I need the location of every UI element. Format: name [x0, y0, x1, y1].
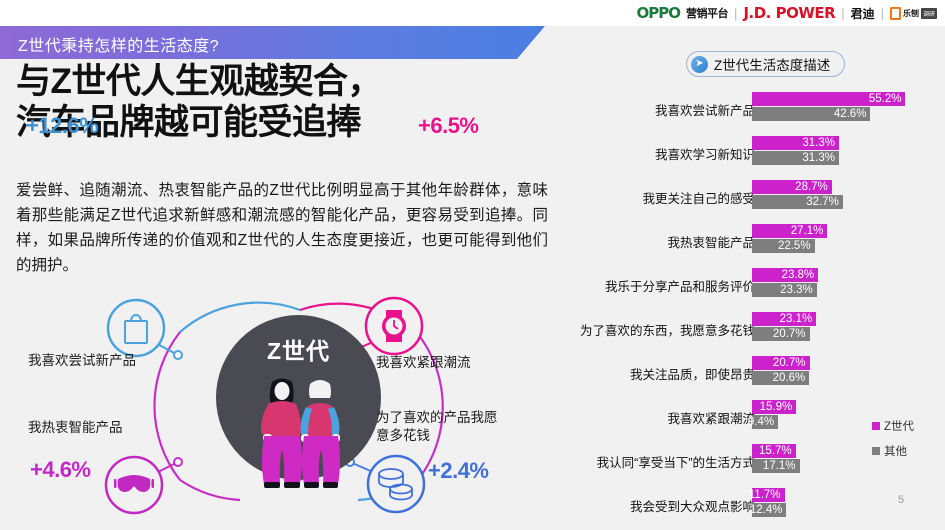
chart-bar-group: 23.1%20.7%: [752, 312, 816, 342]
infographic: Z世代: [0, 292, 560, 518]
stat-bottom-right-value: +2.4%: [428, 458, 489, 484]
chart-title-pill: ➤ Z世代生活态度描述: [686, 51, 845, 77]
chart-category-label: 为了喜欢的东西，我愿意多花钱: [515, 320, 755, 339]
chart-bar-group: 31.3%31.3%: [752, 136, 839, 166]
chart-bar-value: 15.7%: [759, 444, 792, 458]
legend-item-z-gen: Z世代: [872, 418, 914, 434]
chart-bar-value: 23.3%: [780, 283, 813, 297]
chart-bar-value: 28.7%: [795, 180, 828, 194]
chart-bar-other: 32.7%: [752, 195, 843, 209]
chart-row: 我更关注自己的感受28.7%32.7%: [570, 178, 945, 222]
chart-bar-value: 12.4%: [750, 503, 783, 517]
chart-row: 我喜欢学习新知识31.3%31.3%: [570, 134, 945, 178]
chart-row: 我会受到大众观点影响11.7%12.4%: [570, 486, 945, 530]
chart-bar-value: 22.5%: [778, 239, 811, 253]
chart-category-label: 我会受到大众观点影响: [515, 496, 755, 515]
chart-row: 为了喜欢的东西，我愿意多花钱23.1%20.7%: [570, 310, 945, 354]
chart-bar-value: 20.7%: [773, 356, 806, 370]
chart-bar-group: 15.7%17.1%: [752, 444, 800, 474]
stat-top-left-value: +12.6%: [26, 113, 98, 139]
stat-bottom-left-caption: 我热衷智能产品: [28, 419, 123, 437]
legend-label-z-gen: Z世代: [884, 418, 914, 434]
bubble-top-left: [108, 300, 164, 356]
chart-bar-value: 23.1%: [780, 312, 813, 326]
lzq-tag: 调研: [921, 8, 937, 19]
chart-bar-value: 15.9%: [760, 400, 793, 414]
chart-bar-value: 42.6%: [834, 107, 867, 121]
chart-bar-value: 11.7%: [749, 488, 781, 502]
chart-bar-z-gen: 15.9%: [752, 400, 796, 414]
chart-category-label: 我关注品质，即使昂贵: [515, 364, 755, 383]
lzq-logo: 乐刨 调研: [890, 7, 937, 20]
chart-bar-z-gen: 27.1%: [752, 224, 827, 238]
stat-bottom-right-caption: 为了喜欢的产品我愿意多花钱: [376, 409, 506, 445]
chart-bar-other: 31.3%: [752, 151, 839, 165]
chart-bar-other: 20.7%: [752, 327, 810, 341]
chart-bar-value: 9.4%: [748, 415, 774, 429]
chevron-right-icon: ➤: [691, 56, 708, 73]
legend-swatch-other: [872, 447, 880, 455]
chart-bar-group: 11.7%12.4%: [752, 488, 786, 518]
divider-2: |: [841, 6, 844, 21]
headline-line-1: 与Z世代人生观越契合，: [16, 62, 536, 103]
legend-label-other: 其他: [884, 443, 907, 459]
chart-bar-value: 31.3%: [802, 136, 835, 150]
chart-row: 我关注品质，即使昂贵20.7%20.6%: [570, 354, 945, 398]
chart-bar-z-gen: 28.7%: [752, 180, 832, 194]
chart-bar-value: 20.6%: [773, 371, 806, 385]
chart-row: 我热衷智能产品27.1%22.5%: [570, 222, 945, 266]
chart-bar-other: 20.6%: [752, 371, 809, 385]
center-label: Z世代: [216, 332, 381, 366]
chart-bar-value: 20.7%: [773, 327, 806, 341]
joint-bottom-left: [174, 458, 182, 466]
legend-swatch-z-gen: [872, 422, 880, 430]
chart-row: 我喜欢尝试新产品55.2%42.6%: [570, 90, 945, 134]
chart-category-label: 我更关注自己的感受: [515, 188, 755, 207]
chart-bar-value: 31.3%: [802, 151, 835, 165]
chart-bar-value: 23.8%: [782, 268, 815, 282]
chart-bar-value: 55.2%: [869, 92, 902, 106]
logo-group: OPPO 营销平台 | J.D. POWER | 君迪 | 乐刨 调研: [637, 2, 937, 24]
chart-bar-group: 55.2%42.6%: [752, 92, 905, 122]
chart-bar-group: 28.7%32.7%: [752, 180, 843, 210]
chart-row: 我乐于分享产品和服务评价23.8%23.3%: [570, 266, 945, 310]
section-banner-label: Z世代秉持怎样的生活态度?: [18, 32, 219, 56]
stat-top-left-caption: 我喜欢尝试新产品: [28, 352, 136, 370]
lzq-label: 乐刨: [903, 8, 919, 19]
chart-bar-group: 23.8%23.3%: [752, 268, 818, 298]
chart-bar-z-gen: 23.1%: [752, 312, 816, 326]
chart-bar-other: 42.6%: [752, 107, 870, 121]
chart-bar-group: 27.1%22.5%: [752, 224, 827, 254]
chart-bar-group: 20.7%20.6%: [752, 356, 810, 386]
chart-bar-z-gen: 20.7%: [752, 356, 810, 370]
chart-legend: Z世代 其他: [872, 418, 914, 468]
chart-category-label: 我乐于分享产品和服务评价: [515, 276, 755, 295]
female-figure: [261, 379, 302, 489]
chart-bar-other: 17.1%: [752, 459, 800, 473]
chart-bar-other: 23.3%: [752, 283, 817, 297]
page-number: 5: [898, 494, 904, 506]
chart-bar-z-gen: 23.8%: [752, 268, 818, 282]
divider-3: |: [881, 6, 884, 21]
male-figure: [301, 380, 340, 488]
stat-top-right-caption: 我喜欢紧跟潮流: [376, 354, 471, 372]
chart-bar-value: 17.1%: [763, 459, 796, 473]
chart-category-label: 我认同“享受当下”的生活方式: [515, 452, 755, 471]
stat-bottom-left-value: +4.6%: [30, 457, 91, 483]
chart-category-label: 我喜欢学习新知识: [515, 144, 755, 163]
chart-bar-value: 32.7%: [806, 195, 839, 209]
stat-top-right-value: +6.5%: [418, 113, 479, 139]
chart-bar-other: 22.5%: [752, 239, 815, 253]
chart-category-label: 我喜欢尝试新产品: [515, 100, 755, 119]
jd-power-logo: J.D. POWER: [743, 4, 835, 22]
oppo-marketing-platform-label: 营销平台: [686, 5, 728, 21]
chart-bar-value: 27.1%: [791, 224, 824, 238]
oppo-logo: OPPO: [637, 4, 681, 22]
chart-bar-z-gen: 55.2%: [752, 92, 905, 106]
chart-bar-group: 15.9%9.4%: [752, 400, 796, 430]
jundi-logo: 君迪: [851, 5, 875, 22]
divider-1: |: [734, 6, 737, 21]
joint-top-left: [174, 351, 182, 359]
chart-bar-z-gen: 31.3%: [752, 136, 839, 150]
brand-logo-bar: OPPO 营销平台 | J.D. POWER | 君迪 | 乐刨 调研: [0, 0, 945, 26]
legend-item-other: 其他: [872, 443, 914, 459]
chart-category-label: 我热衷智能产品: [515, 232, 755, 251]
chart-category-label: 我喜欢紧跟潮流: [515, 408, 755, 427]
gen-z-people-illustration: [216, 374, 381, 494]
lzq-mark-icon: [890, 7, 901, 20]
chart-bar-other: 12.4%: [752, 503, 786, 517]
body-paragraph: 爱尝鲜、追随潮流、热衷智能产品的Z世代比例明显高于其他年龄群体，意味着那些能满足…: [16, 178, 548, 278]
chart-bar-z-gen: 11.7%: [752, 488, 785, 502]
chart-title-label: Z世代生活态度描述: [714, 54, 830, 74]
chart-bar-z-gen: 15.7%: [752, 444, 796, 458]
chart-bar-other: 9.4%: [752, 415, 778, 429]
